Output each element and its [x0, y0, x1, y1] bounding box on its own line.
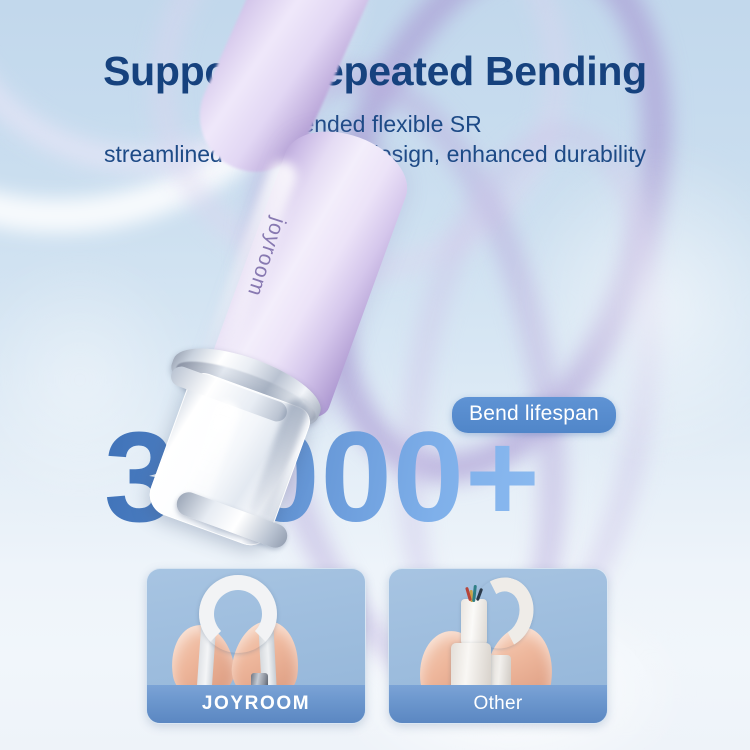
comparison-panel-joyroom: JOYROOM [146, 568, 366, 724]
cable-broken-stub-upper [461, 599, 487, 645]
comparison-panel-label: Other [389, 685, 607, 723]
cable-broken-stub-lower [451, 643, 491, 687]
exposed-wires-icon [463, 585, 487, 605]
comparison-panel-label: JOYROOM [147, 685, 365, 723]
wire-strand [476, 588, 483, 601]
product-feature-banner: Supports Repeated Bending Extended flexi… [0, 0, 750, 750]
bend-lifespan-badge: Bend lifespan [452, 397, 616, 433]
cable-stub-right [489, 655, 511, 687]
broken-cable-exposed-wires-icon [389, 569, 607, 687]
cable-bend-loop [199, 575, 277, 653]
comparison-panel-other: Other [388, 568, 608, 724]
flexible-cable-bent-between-fingers-icon [147, 569, 365, 687]
comparison-panels: JOYROOM Other [146, 568, 608, 724]
